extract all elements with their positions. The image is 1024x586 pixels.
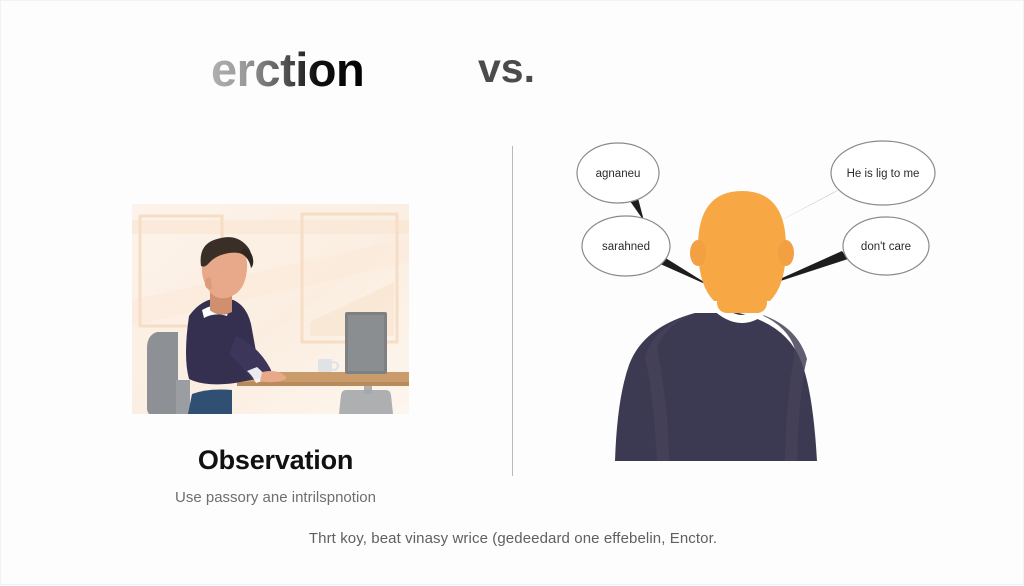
thought-bubble-top-right: He is lig to me — [831, 141, 935, 205]
head — [698, 191, 786, 301]
ear-left — [690, 240, 706, 266]
bubble-label-bottom-left: sarahned — [602, 241, 650, 253]
bubble-label-top-left: agnaneu — [596, 168, 641, 180]
thought-bubble-top-left: agnaneu — [577, 143, 659, 203]
thought-bubble-bottom-left: sarahned — [582, 216, 670, 276]
left-subtitle: Use passory ane intrilspnotion — [1, 489, 512, 506]
right-panel: agnaneu sarahned He is lig to me don't c… — [512, 1, 1024, 586]
ear-right — [778, 240, 794, 266]
thought-bubble-bottom-right: don't care — [843, 217, 929, 275]
man-at-desk-illustration — [132, 204, 409, 414]
bubble-label-bottom-right: don't care — [861, 241, 911, 253]
bottom-caption: Thrt koy, beat vinasy wrice (gedeedard o… — [1, 530, 1024, 547]
left-panel: Observation Use passory ane intrilspnoti… — [1, 1, 512, 586]
bubble-label-top-right: He is lig to me — [847, 168, 920, 180]
left-heading: Observation — [1, 445, 512, 476]
slide-root: erction vs. — [0, 0, 1024, 585]
